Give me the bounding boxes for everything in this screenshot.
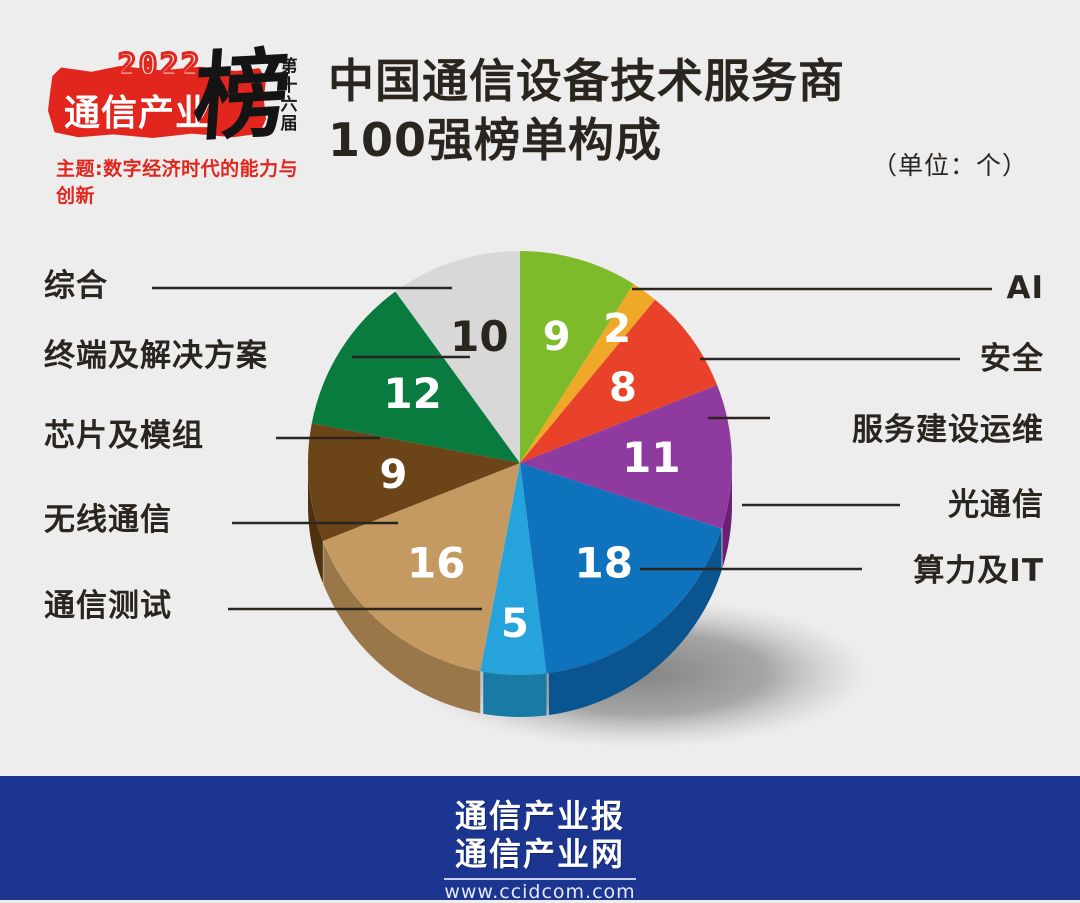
footer-brand-line2: 通信产业网 [0, 836, 1080, 874]
category-label-guangtongxin[interactable]: 光通信 [948, 490, 1044, 521]
pie-value-芯片及模组: 9 [379, 452, 407, 498]
footer-content: 通信产业报 通信产业网 www.ccidcom.com [0, 798, 1080, 903]
category-label-anquan[interactable]: 安全 [980, 344, 1044, 375]
category-label-ai[interactable]: AI [1006, 273, 1044, 304]
pie-value-安全: 2 [603, 306, 631, 352]
category-label-xinpian[interactable]: 芯片及模组 [44, 421, 204, 452]
pie-value-无线通信: 16 [407, 538, 465, 587]
category-label-suanli[interactable]: 算力及IT [913, 556, 1044, 587]
pie-value-AI: 9 [543, 314, 571, 360]
page-title-line1: 中国通信设备技术服务商 [328, 54, 845, 108]
logo-session: 第十六届 [276, 58, 302, 134]
pie-value-通信测试: 5 [501, 601, 529, 647]
header: 2022 通信产业 榜 第十六届 主题:数字经济时代的能力与创新 中国通信设备技… [0, 0, 1080, 205]
category-label-fuwu[interactable]: 服务建设运维 [852, 415, 1044, 446]
pie-value-光通信: 11 [622, 433, 680, 482]
pie-value-算力及IT: 18 [575, 538, 633, 587]
footer-brand-line1: 通信产业报 [0, 798, 1080, 836]
logo-year: 2022 [118, 48, 202, 83]
pie-side-通信测试 [483, 672, 546, 717]
category-label-zonghe[interactable]: 综合 [44, 271, 108, 302]
footer-website-url[interactable]: www.ccidcom.com [444, 878, 635, 903]
infographic-canvas: 2022 通信产业 榜 第十六届 主题:数字经济时代的能力与创新 中国通信设备技… [0, 0, 1080, 900]
unit-note: （单位：个） [872, 146, 1028, 182]
category-label-ceshi[interactable]: 通信测试 [44, 591, 172, 622]
pie-chart-svg: 928111851691210 [0, 205, 1080, 775]
category-label-zhongduan[interactable]: 终端及解决方案 [44, 341, 268, 372]
logo-theme: 主题:数字经济时代的能力与创新 [56, 154, 316, 208]
award-logo: 2022 通信产业 榜 第十六届 主题:数字经济时代的能力与创新 [48, 42, 316, 182]
footer-band: 通信产业报 通信产业网 www.ccidcom.com [0, 776, 1080, 900]
pie-value-服务建设运维: 8 [609, 365, 637, 411]
category-label-wuxian[interactable]: 无线通信 [44, 505, 172, 536]
pie-value-终端及解决方案: 12 [383, 369, 441, 418]
logo-brand: 通信产业 [64, 84, 212, 136]
pie-value-综合: 10 [450, 312, 508, 361]
pie-chart: 928111851691210 综合 终端及解决方案 芯片及模组 无线通信 通信… [0, 205, 1080, 775]
